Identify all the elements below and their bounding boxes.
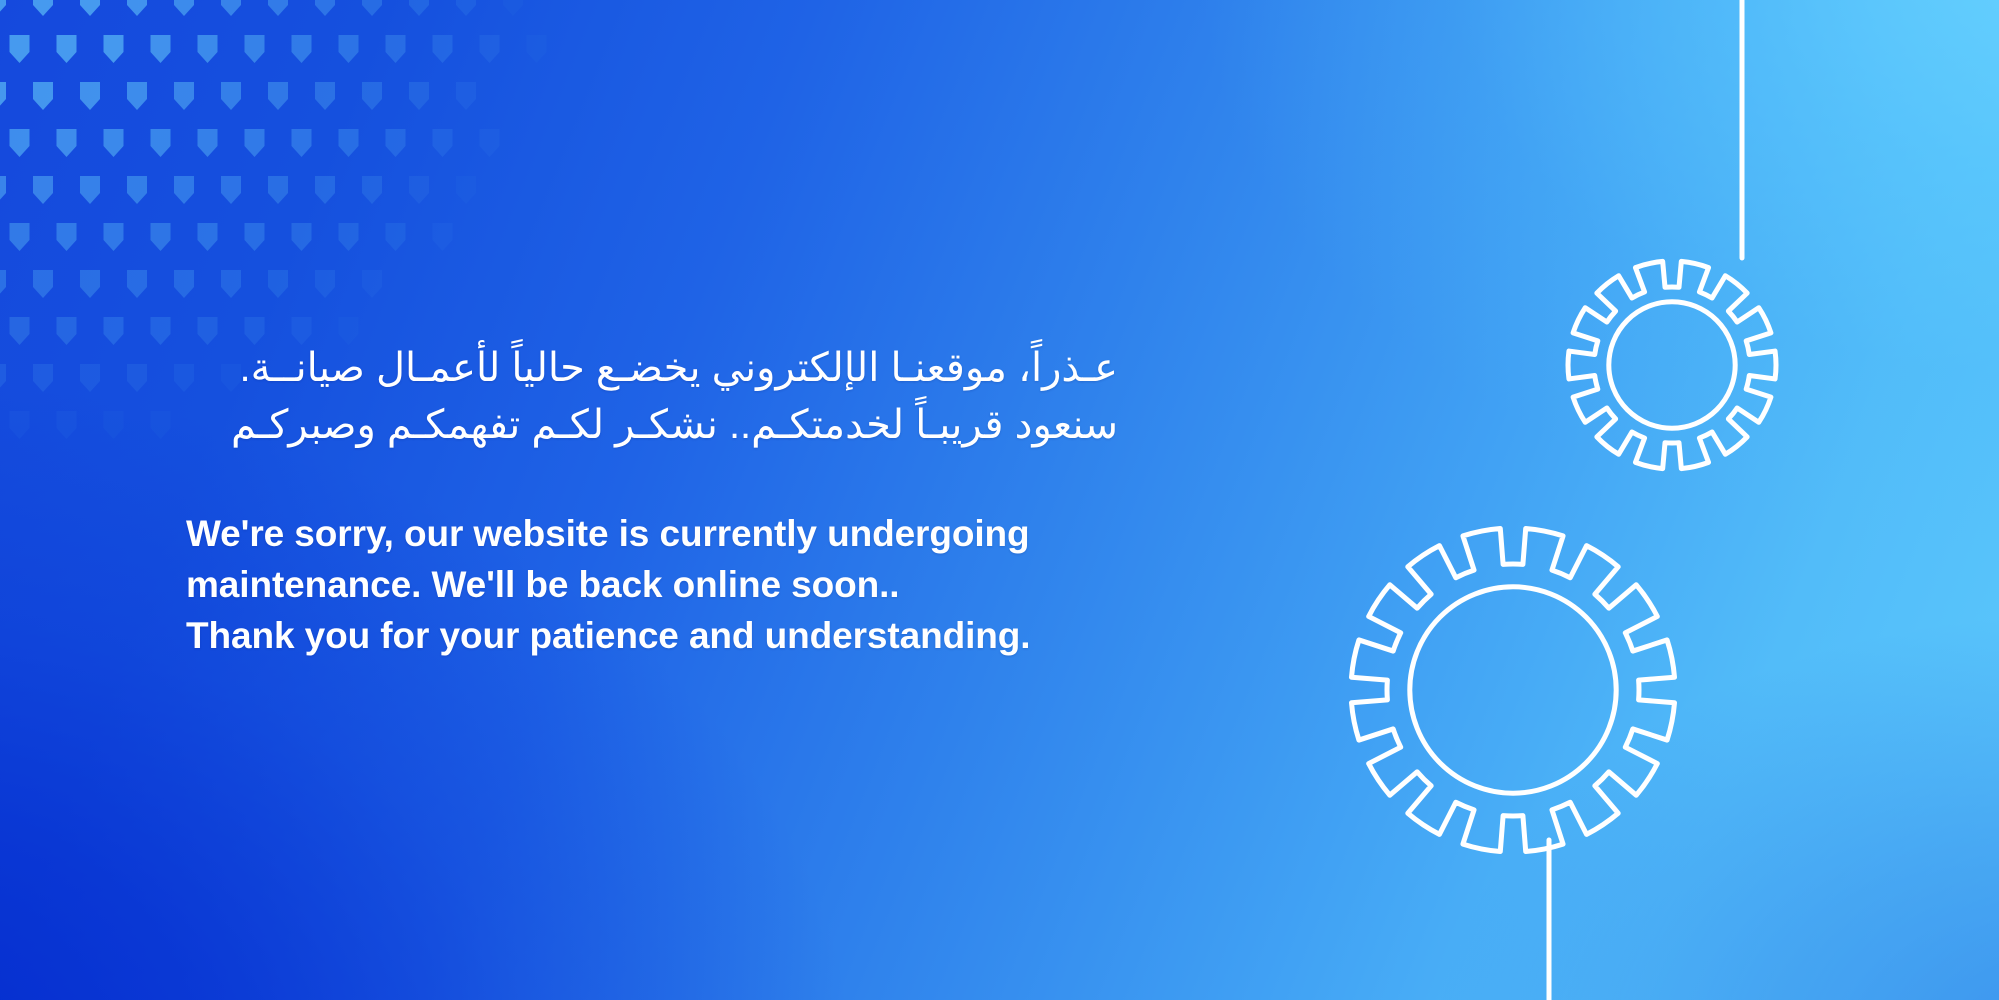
arabic-message-line-1: عـذراً، موقعنـا الإلكتروني يخضـع حالياً … bbox=[186, 340, 1118, 397]
maintenance-page: عـذراً، موقعنـا الإلكتروني يخضـع حالياً … bbox=[0, 0, 1999, 1000]
arabic-message-line-2: سنعود قريبـاً لخدمتكـم.. نشكـر لكـم تفهم… bbox=[186, 397, 1118, 454]
english-message-line-3: Thank you for your patience and understa… bbox=[186, 610, 1146, 661]
arabic-message: عـذراً، موقعنـا الإلكتروني يخضـع حالياً … bbox=[186, 340, 1118, 454]
english-message: We're sorry, our website is currently un… bbox=[186, 508, 1146, 661]
english-message-line-2: maintenance. We'll be back online soon.. bbox=[186, 559, 1146, 610]
message-block: عـذراً، موقعنـا الإلكتروني يخضـع حالياً … bbox=[186, 340, 1146, 661]
english-message-line-1: We're sorry, our website is currently un… bbox=[186, 508, 1146, 559]
